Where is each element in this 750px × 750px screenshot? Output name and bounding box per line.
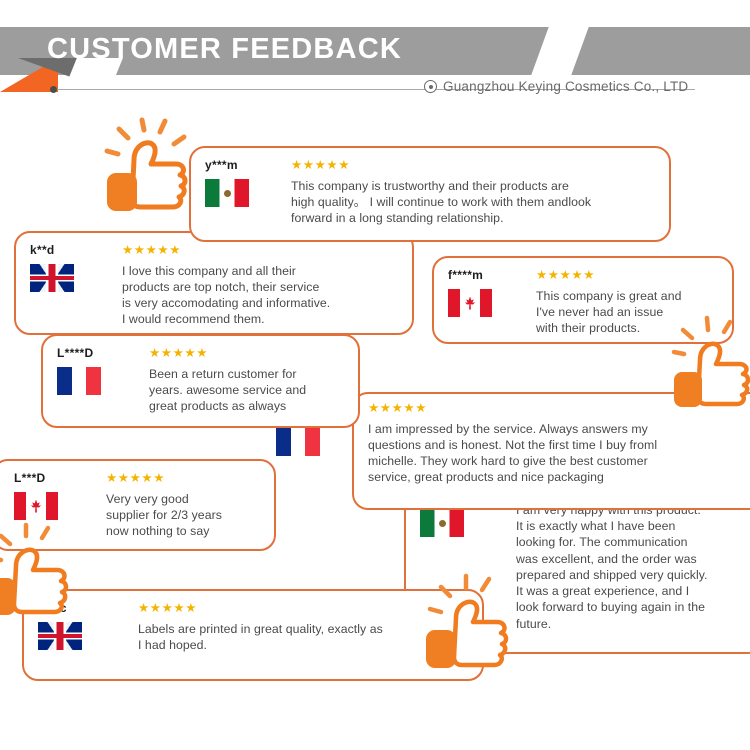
france-flag: [57, 367, 101, 395]
thumbs-up-icon-2: [672, 312, 750, 407]
reviewer-name: k**d: [30, 243, 122, 257]
star-rating: ★★★★★: [149, 347, 346, 360]
mexico-flag: [420, 509, 464, 537]
star-rating: ★★★★★: [291, 159, 657, 172]
review-text: This company is trustworthy and their pr…: [291, 178, 657, 227]
thumbs-up-icon-4: [424, 570, 524, 675]
united-kingdom-flag: [30, 264, 74, 292]
review-text: Very very good supplier for 2/3 years no…: [106, 491, 262, 540]
review-text: I love this company and all their produc…: [122, 263, 400, 328]
review-text: I am very happy with this product. It is…: [516, 502, 750, 632]
reviewer-name: y***m: [205, 158, 291, 172]
star-rating: ★★★★★: [106, 472, 262, 485]
testimonial-card-michelle[interactable]: ★★★★★ I am impressed by the service. Alw…: [352, 392, 750, 510]
star-rating: ★★★★★: [122, 244, 400, 257]
thumbs-up-icon-3: [0, 522, 86, 622]
review-text: Labels are printed in great quality, exa…: [138, 621, 470, 653]
united-kingdom-flag: [38, 622, 82, 650]
testimonial-card-lstar-d-france[interactable]: L****D ★★★★★ Been a return customer for …: [41, 334, 360, 428]
company-signature: Guangzhou Keying Cosmetics Co., LTD: [424, 79, 688, 94]
thumbs-up-icon-1: [104, 120, 214, 230]
page-title: CUSTOMER FEEDBACK: [47, 33, 402, 66]
france-flag: [276, 428, 320, 456]
header-rule-dot: [50, 86, 57, 93]
review-text: Been a return customer for years. awesom…: [149, 366, 346, 415]
canada-flag: [14, 492, 58, 520]
company-name: Guangzhou Keying Cosmetics Co., LTD: [443, 79, 688, 94]
reviewer-name: L****D: [57, 346, 149, 360]
review-text: I am impressed by the service. Always an…: [368, 421, 750, 486]
reviewer-name: f****m: [448, 268, 536, 282]
feedback-poster: CUSTOMER FEEDBACK Guangzhou Keying Cosme…: [0, 0, 750, 750]
target-icon: [424, 80, 437, 93]
testimonial-card-j-c[interactable]: J***c ★★★★★ Labels are printed in great …: [22, 589, 484, 681]
testimonial-card-ystar-m[interactable]: y***m ★★★★★ This company is trustworthy …: [189, 146, 671, 242]
testimonial-card-k-d[interactable]: k**d ★★★★★ I love this company and all t…: [14, 231, 414, 335]
star-rating: ★★★★★: [536, 269, 720, 282]
star-rating: ★★★★★: [138, 602, 470, 615]
canada-flag: [448, 289, 492, 317]
reviewer-name: L***D: [14, 471, 106, 485]
